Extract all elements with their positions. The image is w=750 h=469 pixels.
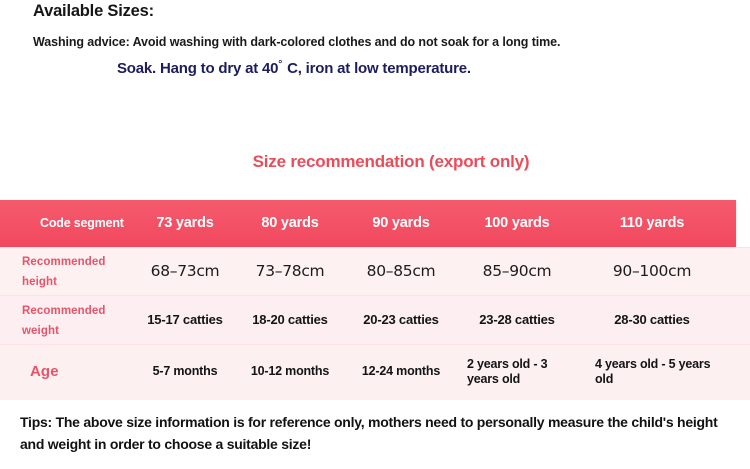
degree-symbol: ° <box>278 59 282 70</box>
cell-height-90: 80–85cm <box>345 262 457 281</box>
size-recommendation-title: Size recommendation (export only) <box>0 152 750 172</box>
size-chart-page: Available Sizes: Washing advice: Avoid w… <box>0 0 750 469</box>
cell-age-110: 4 years old - 5 years old <box>577 357 727 388</box>
cell-height-110: 90–100cm <box>577 262 727 281</box>
column-header-100-yards: 100 yards <box>457 215 577 233</box>
table-row: Recommended weight 15-17 catties 18-20 c… <box>0 295 750 344</box>
washing-advice-text: Washing advice: Avoid washing with dark-… <box>33 35 560 49</box>
table-row: Age 5-7 months 10-12 months 12-24 months… <box>0 344 750 400</box>
column-header-80-yards: 80 yards <box>235 215 345 233</box>
tips-text: Tips: The above size information is for … <box>20 412 732 455</box>
row-label-recommended-weight: Recommended weight <box>0 300 135 339</box>
row-label-recommended-height: Recommended height <box>0 251 135 290</box>
cell-weight-100: 23-28 catties <box>457 312 577 328</box>
cell-age-80: 10-12 months <box>235 364 345 379</box>
row-separator <box>0 295 750 296</box>
row-separator <box>0 247 750 248</box>
cell-age-90: 12-24 months <box>345 364 457 379</box>
soak-prefix: Soak. Hang to dry at 40 <box>117 60 278 77</box>
row-label-line2: height <box>22 276 57 288</box>
cell-age-100: 2 years old - 3 years old <box>457 357 577 388</box>
soak-suffix: C, iron at low temperature. <box>287 60 471 77</box>
column-header-110-yards: 110 yards <box>577 215 727 233</box>
column-header-90-yards: 90 yards <box>345 215 457 233</box>
cell-weight-90: 20-23 catties <box>345 312 457 328</box>
size-table: Code segment 73 yards 80 yards 90 yards … <box>0 200 750 400</box>
cell-age-73: 5-7 months <box>135 364 235 379</box>
row-label-line1: Age <box>22 363 59 380</box>
column-header-code-segment: Code segment <box>0 216 135 231</box>
table-header-row: Code segment 73 yards 80 yards 90 yards … <box>0 200 736 247</box>
row-label-line1: Recommended <box>22 256 106 268</box>
cell-weight-80: 18-20 catties <box>235 312 345 328</box>
column-header-73-yards: 73 yards <box>135 215 235 233</box>
row-label-age: Age <box>0 362 135 382</box>
cell-height-80: 73–78cm <box>235 262 345 281</box>
cell-weight-110: 28-30 catties <box>577 312 727 328</box>
cell-height-100: 85–90cm <box>457 262 577 281</box>
soak-instruction-text: Soak. Hang to dry at 40°C, iron at low t… <box>117 60 471 77</box>
available-sizes-heading: Available Sizes: <box>33 2 154 21</box>
row-separator <box>0 344 750 345</box>
row-label-line2: weight <box>22 325 59 337</box>
table-row: Recommended height 68–73cm 73–78cm 80–85… <box>0 247 750 295</box>
cell-height-73: 68–73cm <box>135 262 235 281</box>
row-label-line1: Recommended <box>22 305 106 317</box>
cell-weight-73: 15-17 catties <box>135 312 235 328</box>
